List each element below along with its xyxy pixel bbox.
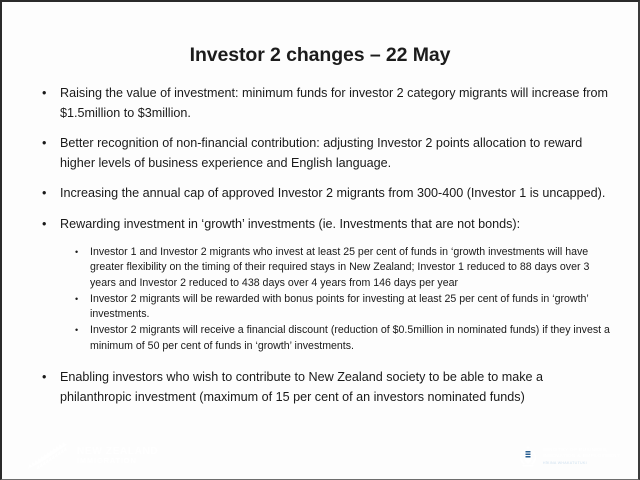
bullet-text: Enabling investors who wish to contribut… — [60, 368, 616, 407]
bullet-marker-icon: • — [42, 184, 46, 204]
nz-immigration-logo: ™ NEW ZEALAND IMMIGRATION — [24, 442, 158, 470]
bullet-marker-icon: • — [42, 84, 46, 104]
mbie-wordmark: MINISTRY OF BUSINESS, INNOVATION & EMPLO… — [543, 448, 620, 465]
bullet-text: Better recognition of non-financial cont… — [60, 134, 616, 173]
bullet-marker-icon: • — [42, 215, 46, 235]
bullet-item: • Better recognition of non-financial co… — [30, 134, 616, 173]
sub-bullet-item: • Investor 1 and Investor 2 migrants who… — [30, 245, 616, 291]
bullet-marker-icon: • — [42, 368, 46, 388]
bullet-item: • Enabling investors who wish to contrib… — [30, 368, 616, 407]
slide-body: • Raising the value of investment: minim… — [2, 84, 638, 431]
sub-bullet-item: • Investor 2 migrants will be rewarded w… — [30, 292, 616, 323]
bullet-item: • Raising the value of investment: minim… — [30, 84, 616, 123]
page-title: Investor 2 changes – 22 May — [2, 44, 638, 67]
sub-bullet-text: Investor 2 migrants will be rewarded wit… — [90, 292, 616, 323]
bullet-text: Raising the value of investment: minimum… — [60, 84, 616, 123]
sub-bullet-text: Investor 1 and Investor 2 migrants who i… — [90, 245, 616, 291]
sub-bullet-item: • Investor 2 migrants will receive a fin… — [30, 323, 616, 354]
bullet-item: • Rewarding investment in ‘growth’ inves… — [30, 215, 616, 235]
mbie-logo: MINISTRY OF BUSINESS, INNOVATION & EMPLO… — [518, 445, 620, 468]
slide-footer: ™ NEW ZEALAND IMMIGRATION — [2, 435, 638, 479]
sub-bullet-list: • Investor 1 and Investor 2 migrants who… — [30, 245, 616, 354]
slide-content-area: Investor 2 changes – 22 May • Raising th… — [2, 2, 638, 479]
bullet-item: • Increasing the annual cap of approved … — [30, 184, 616, 204]
sub-bullet-marker-icon: • — [75, 245, 78, 260]
nz-immigration-line2: IMMIGRATION — [77, 457, 158, 465]
sub-bullet-marker-icon: • — [75, 323, 78, 338]
slide-canvas: Investor 2 changes – 22 May • Raising th… — [0, 0, 640, 480]
silver-fern-icon — [24, 442, 70, 470]
bullet-marker-icon: • — [42, 134, 46, 154]
bullet-text: Increasing the annual cap of approved In… — [60, 184, 616, 204]
nz-coat-of-arms-icon — [518, 445, 538, 468]
sub-bullet-marker-icon: • — [75, 292, 78, 307]
trademark-mark: ™ — [117, 435, 122, 438]
sub-bullet-text: Investor 2 migrants will receive a finan… — [90, 323, 616, 354]
nz-immigration-wordmark: ™ NEW ZEALAND IMMIGRATION — [77, 447, 158, 466]
mbie-line2: INNOVATION & EMPLOYMENT — [543, 454, 620, 460]
mbie-line3-maori: HĪKINA WHAKATUTUKI — [543, 461, 620, 465]
bullet-text: Rewarding investment in ‘growth’ investm… — [60, 215, 616, 235]
